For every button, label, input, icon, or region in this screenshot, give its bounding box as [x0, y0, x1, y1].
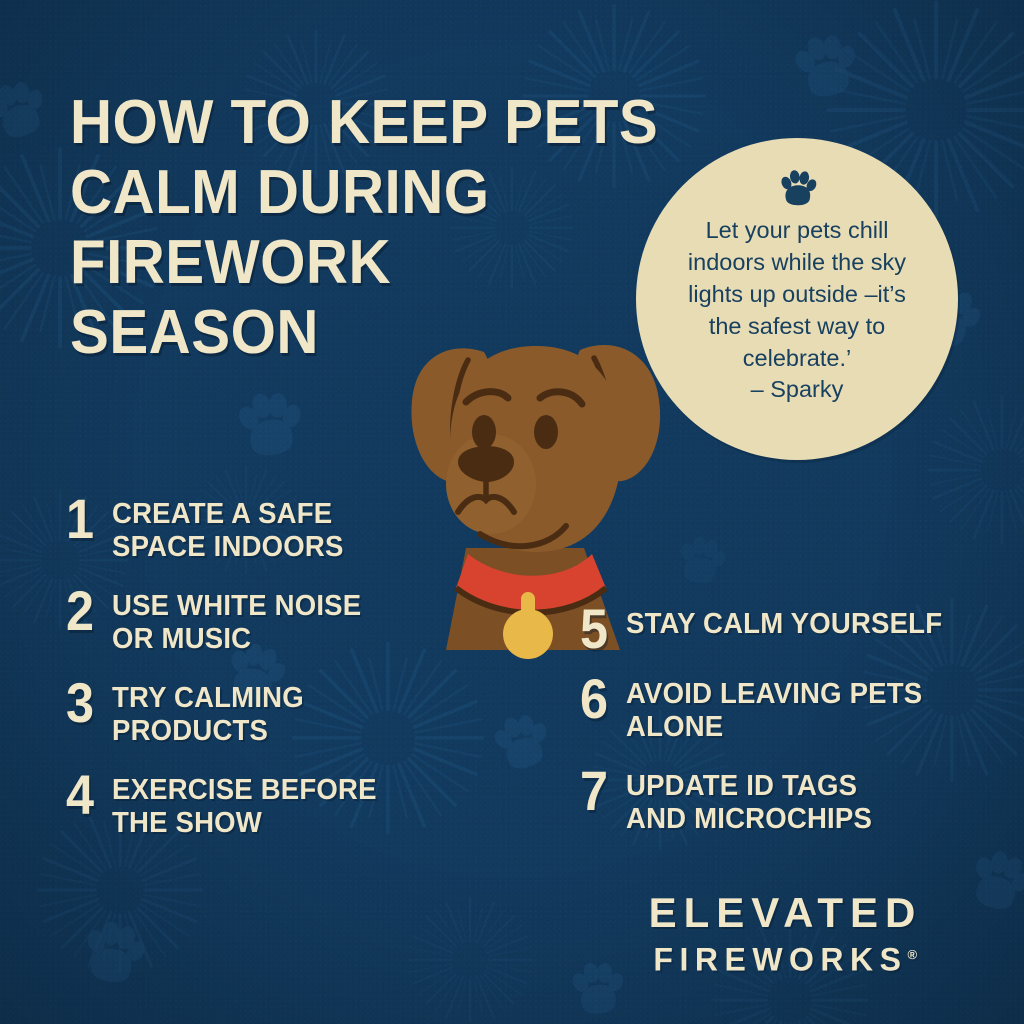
infographic-poster: HOW TO KEEP PETS CALM DURING FIREWORK SE… [0, 0, 1024, 1024]
tip-item: 3 TRY CALMING PRODUCTS [66, 682, 446, 748]
speech-bubble-quote: Let your pets chill indoors while the sk… [672, 214, 922, 374]
tip-label-line-2: ALONE [626, 711, 981, 744]
brand-secondary-text: FIREWORKS [653, 942, 907, 978]
tip-label: USE WHITE NOISE OR MUSIC [112, 590, 429, 656]
tip-number: 7 [580, 768, 621, 814]
tip-item: 1 CREATE A SAFE SPACE INDOORS [66, 498, 446, 564]
registered-trademark-icon: ® [907, 947, 917, 962]
brand-logo: ELEVATED FIREWORKS® [612, 890, 952, 979]
quote-line-4: the safest way to [672, 310, 922, 342]
tip-item: 4 EXERCISE BEFORE THE SHOW [66, 774, 446, 840]
tip-label: AVOID LEAVING PETS ALONE [626, 678, 981, 744]
quote-line-5: celebrate.’ [672, 342, 922, 374]
tip-item: 5 STAY CALM YOURSELF [580, 608, 1000, 652]
tip-label: TRY CALMING PRODUCTS [112, 682, 429, 748]
tip-label-line-2: THE SHOW [112, 807, 429, 840]
tip-label-line-1: TRY CALMING [112, 682, 429, 715]
headline-line-1: HOW TO KEEP PETS [70, 88, 672, 158]
paw-print-icon [774, 168, 820, 208]
tip-label-line-1: UPDATE ID TAGS [626, 770, 981, 803]
quote-line-2: indoors while the sky [672, 246, 922, 278]
tip-number: 1 [66, 496, 107, 542]
speech-bubble-author: – Sparky [751, 374, 844, 404]
tips-list-right: 5 STAY CALM YOURSELF 6 AVOID LEAVING PET… [580, 608, 1000, 862]
headline-line-2: CALM DURING [70, 158, 672, 228]
tip-label-line-2: OR MUSIC [112, 623, 429, 656]
quote-line-3: lights up outside –it’s [672, 278, 922, 310]
tip-item: 2 USE WHITE NOISE OR MUSIC [66, 590, 446, 656]
tip-number: 2 [66, 588, 107, 634]
tip-label-line-1: EXERCISE BEFORE [112, 774, 429, 807]
tip-label-line-1: AVOID LEAVING PETS [626, 678, 981, 711]
tip-number: 4 [66, 772, 107, 818]
tip-label-line-2: PRODUCTS [112, 715, 429, 748]
tip-label: UPDATE ID TAGS AND MICROCHIPS [626, 770, 981, 836]
tip-label: CREATE A SAFE SPACE INDOORS [112, 498, 429, 564]
tip-item: 7 UPDATE ID TAGS AND MICROCHIPS [580, 770, 1000, 836]
tip-label: STAY CALM YOURSELF [626, 608, 981, 641]
brand-name-primary: ELEVATED [612, 890, 952, 936]
tip-label-line-2: AND MICROCHIPS [626, 803, 981, 836]
tips-list-left: 1 CREATE A SAFE SPACE INDOORS 2 USE WHIT… [66, 498, 446, 866]
tip-number: 5 [580, 606, 621, 652]
tip-label-line-2: SPACE INDOORS [112, 531, 429, 564]
tip-label-line-1: STAY CALM YOURSELF [626, 608, 981, 641]
quote-line-1: Let your pets chill [672, 214, 922, 246]
tip-label-line-1: CREATE A SAFE [112, 498, 429, 531]
tip-item: 6 AVOID LEAVING PETS ALONE [580, 678, 1000, 744]
tip-label: EXERCISE BEFORE THE SHOW [112, 774, 429, 840]
tip-label-line-1: USE WHITE NOISE [112, 590, 429, 623]
tip-number: 3 [66, 680, 107, 726]
headline-line-3: FIREWORK [70, 228, 672, 298]
brand-name-secondary: FIREWORKS® [647, 936, 917, 979]
speech-bubble: Let your pets chill indoors while the sk… [636, 138, 958, 460]
tip-number: 6 [580, 676, 621, 722]
